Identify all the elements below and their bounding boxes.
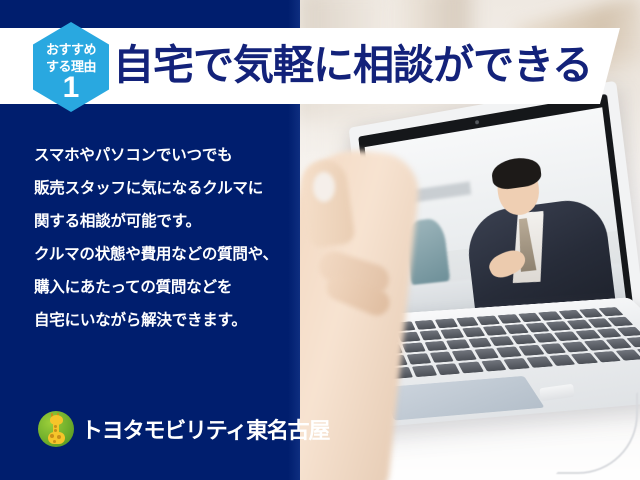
body-line: 関する相談が可能です。 (34, 205, 286, 238)
body-line: 販売スタッフに気になるクルマに (34, 172, 286, 205)
body-line: スマホやパソコンでいつでも (34, 139, 286, 172)
body-line: クルマの状態や費用などの質問や、 (34, 238, 286, 271)
giraffe-mascot-icon (38, 411, 74, 447)
user-finger-gap (313, 172, 335, 202)
brand-logo: トヨタモビリティ東名古屋 (38, 411, 329, 447)
promo-banner-image: 自宅で気軽に相談ができる おすすめ する理由 1 スマホやパソコンでいつでも 販… (0, 0, 640, 480)
body-line: 自宅にいながら解決できます。 (34, 304, 286, 337)
giraffe-figure (47, 415, 66, 445)
webcam-icon (475, 120, 479, 125)
body-line: 購入にあたっての質問などを (34, 271, 286, 304)
brand-name: トヨタモビリティ東名古屋 (81, 413, 329, 445)
body-copy: スマホやパソコンでいつでも 販売スタッフに気になるクルマに 関する相談が可能です… (34, 139, 286, 337)
laptop-touchpad (382, 376, 544, 421)
page-title: 自宅で気軽に相談ができる (113, 39, 592, 92)
